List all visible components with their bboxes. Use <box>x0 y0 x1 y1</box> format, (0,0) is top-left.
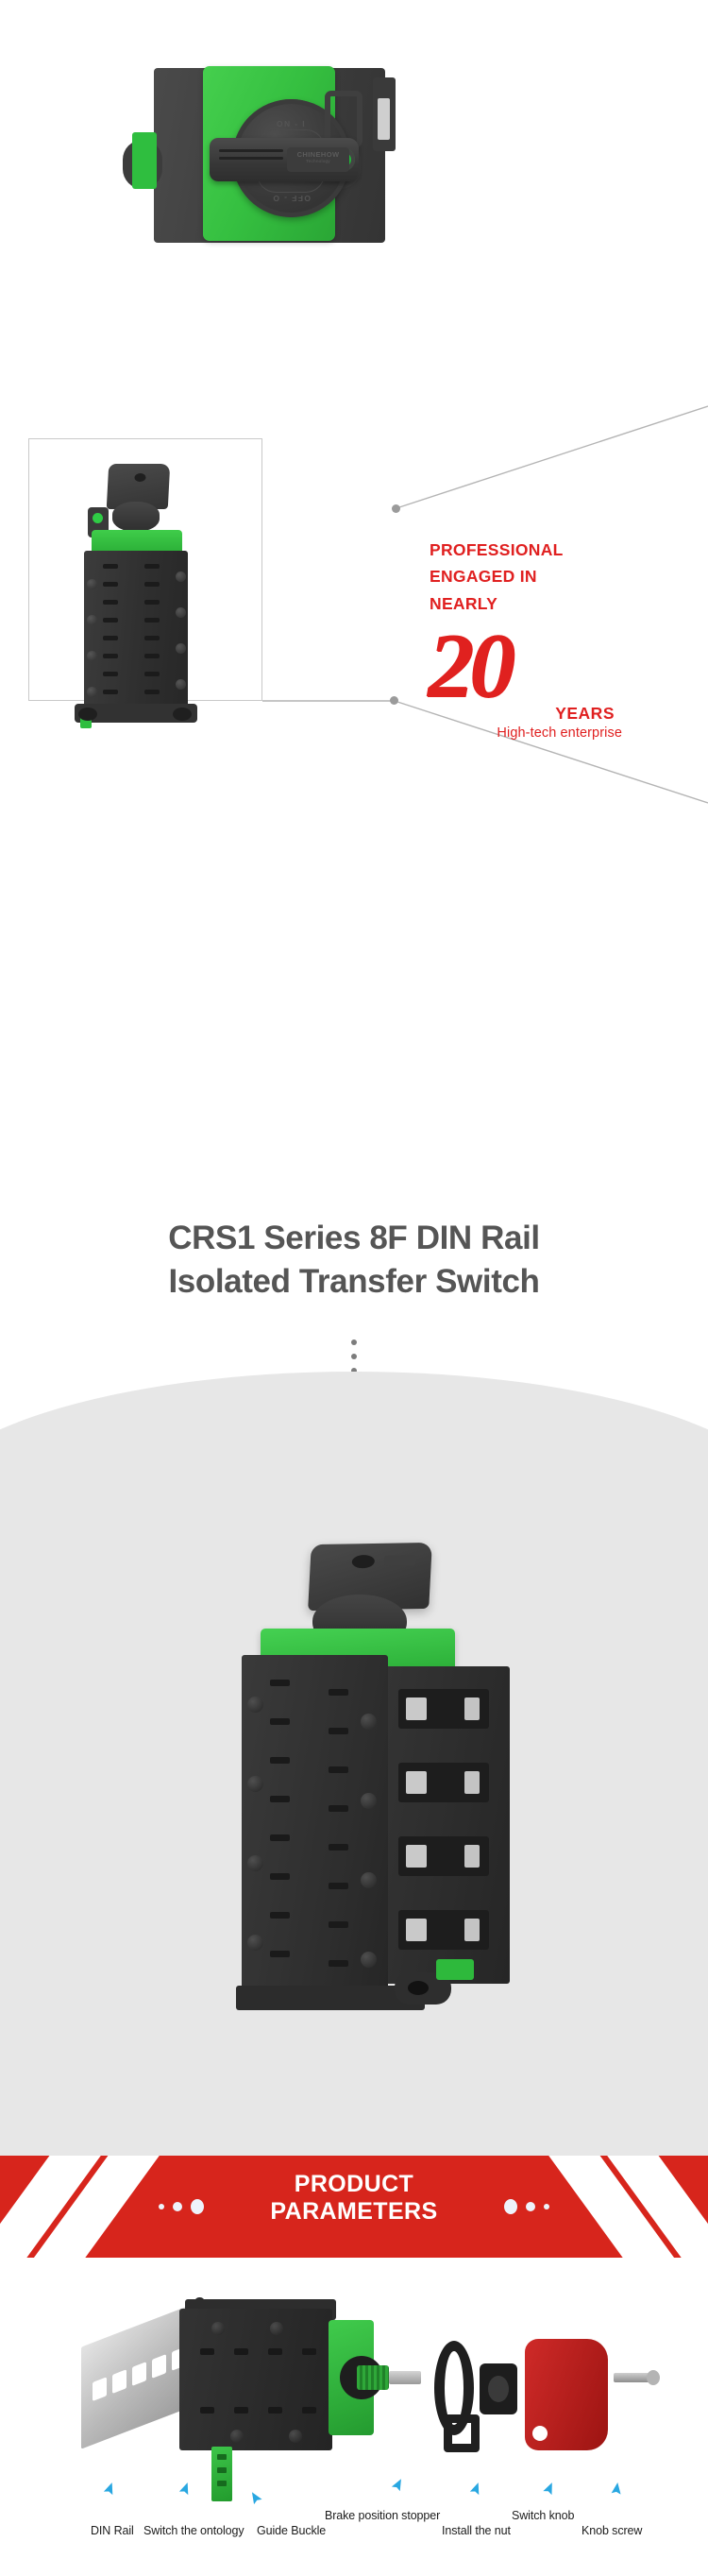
screw-head <box>87 579 97 589</box>
right-terminal-stack <box>373 77 396 151</box>
screw-head <box>361 1872 377 1888</box>
part-label: Switch knob <box>512 2509 574 2522</box>
framed-product-photo <box>28 438 262 701</box>
hero-product-image: ON - I OFF - O CHINEHOWTechnology <box>0 0 708 397</box>
page-title: CRS1 Series 8F DIN Rail Isolated Transfe… <box>0 1217 708 1304</box>
banner-dot <box>504 2199 517 2214</box>
side-switch-body <box>84 551 188 711</box>
vent-slot <box>144 672 160 676</box>
vent-slot <box>103 618 118 623</box>
screw-head <box>247 1935 263 1951</box>
vent-slot <box>103 636 118 640</box>
part-label: Brake position stopper <box>325 2509 440 2522</box>
banner-heading-line-1: PRODUCT <box>0 2171 708 2198</box>
vent-slot <box>144 690 160 694</box>
vent-slot <box>270 1951 290 1957</box>
badge-headline-line-1: PROFESSIONAL <box>430 537 684 563</box>
brand-name: CHINEHOW <box>297 150 340 159</box>
screw-head <box>176 607 186 618</box>
side-view-illustration <box>29 439 261 700</box>
screw-head <box>247 1776 263 1792</box>
showcase-body-left-face <box>242 1655 388 1997</box>
showcase-product-image <box>0 1372 708 2156</box>
part-label: Switch the ontology <box>143 2524 244 2537</box>
terminal-block <box>398 1689 489 1729</box>
vent-slot <box>103 564 118 569</box>
showcase-section <box>0 1372 708 2156</box>
vent-slot <box>270 1912 290 1919</box>
vent-slot <box>103 600 118 605</box>
vent-slot <box>329 1883 348 1889</box>
banner-heading-line-2: PARAMETERS <box>0 2198 708 2226</box>
terminal-block <box>398 1836 489 1876</box>
screw-head <box>176 679 186 690</box>
vent-slot <box>103 672 118 676</box>
screw-head <box>247 1855 263 1871</box>
exploded-diagram: DIN RailSwitch the ontologyGuide BuckleB… <box>0 2258 708 2576</box>
screw-head <box>176 643 186 654</box>
vent-slot <box>329 1805 348 1812</box>
badge-number: 20 <box>428 623 684 709</box>
exploded-diagram-section: DIN RailSwitch the ontologyGuide BuckleB… <box>0 2258 708 2576</box>
product-title-section: CRS1 Series 8F DIN Rail Isolated Transfe… <box>0 1171 708 1393</box>
banner-dots-right <box>504 2199 549 2214</box>
badge-headline-line-2: ENGAGED IN <box>430 563 684 589</box>
vent-slot <box>144 618 160 623</box>
product-parameters-banner: PRODUCT PARAMETERS <box>0 2156 708 2258</box>
screw-head <box>361 1714 377 1730</box>
terminal-block <box>398 1910 489 1950</box>
vent-slot <box>144 582 160 587</box>
terminal-block <box>398 1763 489 1802</box>
page-title-line-1: CRS1 Series 8F DIN Rail <box>0 1217 708 1260</box>
badge-headline: PROFESSIONAL ENGAGED IN NEARLY <box>430 537 684 617</box>
part-label: DIN Rail <box>91 2524 134 2537</box>
screw-head <box>361 1793 377 1809</box>
vent-slot <box>144 636 160 640</box>
vent-slot <box>103 654 118 658</box>
vent-slot <box>270 1757 290 1764</box>
banner-dot <box>544 2204 549 2209</box>
anniversary-badge-section: PROFESSIONAL ENGAGED IN NEARLY 20 YEARS … <box>0 397 708 1171</box>
terminal-clamp <box>406 1771 427 1794</box>
hero-product-section: ON - I OFF - O CHINEHOWTechnology <box>0 0 708 397</box>
vent-slot <box>329 1766 348 1773</box>
vent-slot <box>270 1834 290 1841</box>
banner-dot <box>526 2202 535 2211</box>
terminal-clamp <box>406 1919 427 1941</box>
screw-head <box>87 687 97 697</box>
vent-slot <box>329 1844 348 1851</box>
vent-slot <box>270 1873 290 1880</box>
badge-subtitle: High-tech enterprise <box>430 725 622 741</box>
vent-slot <box>329 1689 348 1696</box>
screw-head <box>247 1697 263 1713</box>
vent-slot <box>103 690 118 694</box>
leader-dot-bottom <box>390 696 398 705</box>
part-label: Guide Buckle <box>257 2524 326 2537</box>
part-label: Knob screw <box>582 2524 642 2537</box>
vent-slot <box>270 1718 290 1725</box>
terminal-clamp <box>406 1697 427 1720</box>
terminal-clamp <box>406 1845 427 1868</box>
dial-off-label: OFF - O <box>232 194 350 203</box>
vent-slot <box>144 600 160 605</box>
vent-slot <box>270 1680 290 1686</box>
terminal-screw <box>464 1845 480 1868</box>
badge-headline-line-3: NEARLY <box>430 590 684 617</box>
screw-head <box>361 1952 377 1968</box>
screw-head <box>87 615 97 625</box>
anniversary-badge: PROFESSIONAL ENGAGED IN NEARLY 20 YEARS … <box>430 537 684 741</box>
divider-dot <box>351 1354 357 1359</box>
side-mount-hole-left <box>78 708 97 721</box>
screw-head <box>176 571 186 582</box>
screw-head <box>87 651 97 661</box>
showcase-foot-green-tab <box>436 1959 474 1980</box>
green-side-clip <box>132 132 157 189</box>
brand-tagline: Technology <box>287 159 349 164</box>
banner-heading: PRODUCT PARAMETERS <box>0 2171 708 2226</box>
page-title-line-2: Isolated Transfer Switch <box>0 1260 708 1304</box>
part-label: Install the nut <box>442 2524 511 2537</box>
vent-slot <box>144 654 160 658</box>
divider-dot <box>351 1339 357 1345</box>
vent-slot <box>329 1921 348 1928</box>
terminal-screw <box>464 1771 480 1794</box>
brand-plate: CHINEHOWTechnology <box>287 147 349 172</box>
vent-slot <box>144 564 160 569</box>
terminal-screw <box>464 1919 480 1941</box>
side-knob-body <box>112 502 160 532</box>
leader-dot-top <box>392 504 400 513</box>
vent-slot <box>329 1728 348 1734</box>
showcase-body-right-face <box>385 1666 510 1984</box>
vent-slot <box>329 1960 348 1967</box>
terminal-screw <box>464 1697 480 1720</box>
side-mount-hole-right <box>173 708 192 721</box>
vent-slot <box>270 1796 290 1802</box>
vent-slot <box>103 582 118 587</box>
switch-lever: CHINEHOWTechnology <box>210 138 359 181</box>
lever-grip-lines <box>219 149 283 152</box>
